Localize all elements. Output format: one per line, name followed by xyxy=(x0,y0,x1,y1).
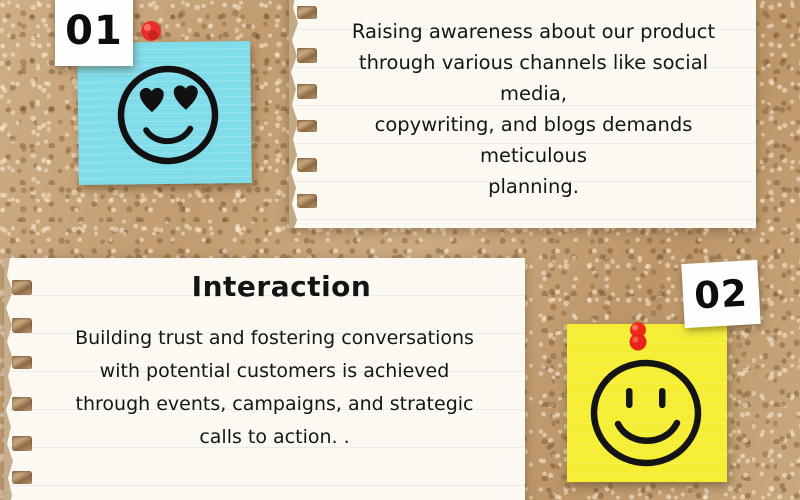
perforation-hole xyxy=(12,471,32,484)
note-line: through various channels like social med… xyxy=(325,47,742,109)
note-line: Building trust and fostering conversatio… xyxy=(42,322,507,355)
step-number-card-01[interactable]: 01 xyxy=(55,0,133,66)
note-page-interaction-inner: Interaction Building trust and fostering… xyxy=(4,258,525,500)
note-body-awareness: Raising awareness about our product thro… xyxy=(323,16,756,202)
note-page-awareness[interactable]: Raising awareness about our product thro… xyxy=(289,0,756,228)
step-number-label: 01 xyxy=(65,2,123,54)
note-line: through events, campaigns, and strategic xyxy=(42,388,507,421)
perforation-hole xyxy=(12,280,32,295)
note-line: Raising awareness about our product xyxy=(325,16,742,47)
note-page-interaction[interactable]: Interaction Building trust and fostering… xyxy=(4,258,525,500)
note-line: planning. xyxy=(325,171,742,202)
perforation-hole xyxy=(12,356,32,369)
note-line: copywriting, and blogs demands meticulou… xyxy=(325,109,742,171)
note-line: with potential customers is achieved xyxy=(42,355,507,388)
perforation-hole xyxy=(297,194,317,208)
perforation-hole xyxy=(12,436,32,451)
perforation-hole xyxy=(12,397,32,411)
note-heading-interaction: Interaction xyxy=(38,270,525,304)
perforation-holes xyxy=(289,0,323,228)
step-number-label: 02 xyxy=(693,271,749,317)
push-pin-red-01[interactable] xyxy=(136,17,166,47)
step-number-card-02[interactable]: 02 xyxy=(681,260,760,328)
cork-board-canvas: Raising awareness about our product thro… xyxy=(0,0,800,500)
note-line: calls to action. . xyxy=(42,421,507,454)
note-body-interaction: Building trust and fostering conversatio… xyxy=(38,322,525,454)
note-page-awareness-inner: Raising awareness about our product thro… xyxy=(289,0,756,228)
perforation-hole xyxy=(297,120,317,132)
push-pin-red-02[interactable] xyxy=(624,320,652,356)
perforation-hole xyxy=(297,158,317,172)
perforation-hole xyxy=(297,48,317,63)
perforation-hole xyxy=(297,84,317,99)
perforation-hole xyxy=(12,318,32,333)
perforation-holes xyxy=(4,258,38,500)
perforation-hole xyxy=(297,6,317,19)
